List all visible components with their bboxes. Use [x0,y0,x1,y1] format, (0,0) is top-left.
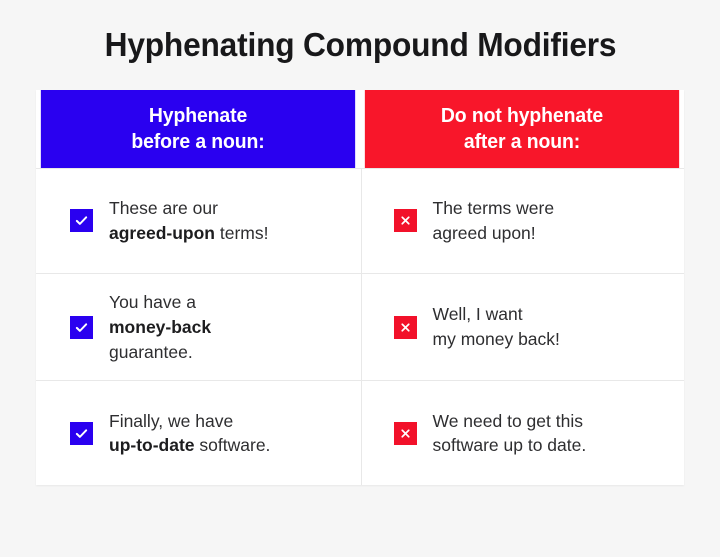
cross-icon [394,316,417,339]
incorrect-example-cell: The terms wereagreed upon! [361,169,685,273]
example-text-line: agreed upon! [433,221,555,246]
plain-text-run: Finally, we have [109,411,233,431]
cross-icon [394,422,417,445]
example-text-line: up-to-date software. [109,433,270,458]
plain-text-run: software up to date. [433,435,587,455]
plain-text-run: agreed upon! [433,223,536,243]
plain-text-run: software. [195,435,271,455]
example-text-line: my money back! [433,327,560,352]
plain-text-run: Well, I want [433,304,523,324]
table-row: These are ouragreed-upon terms! The term… [36,168,684,273]
correct-example-text: Finally, we haveup-to-date software. [109,409,270,459]
example-text-line: Well, I want [433,302,560,327]
column-header-do-not-hyphenate-line2: after a noun: [464,129,580,155]
example-text-line: money-back [109,315,211,340]
check-icon [70,316,93,339]
comparison-table: Hyphenate before a noun: Do not hyphenat… [36,90,684,486]
example-text-line: The terms were [433,196,555,221]
example-text-line: agreed-upon terms! [109,221,268,246]
column-header-do-not-hyphenate: Do not hyphenate after a noun: [365,90,679,168]
incorrect-example-cell: We need to get thissoftware up to date. [361,381,685,485]
incorrect-example-text: The terms wereagreed upon! [433,196,555,246]
plain-text-run: These are our [109,198,218,218]
correct-example-cell: Finally, we haveup-to-date software. [36,381,361,485]
plain-text-run: terms! [215,223,268,243]
plain-text-run: The terms were [433,198,555,218]
correct-example-text: These are ouragreed-upon terms! [109,196,268,246]
example-text-line: Finally, we have [109,409,270,434]
table-row: You have amoney-backguarantee. Well, I w… [36,273,684,381]
column-header-do-not-hyphenate-line1: Do not hyphenate [441,103,603,129]
infographic-card: Hyphenating Compound Modifiers Hyphenate… [0,0,720,557]
check-icon [70,422,93,445]
correct-example-cell: These are ouragreed-upon terms! [36,169,361,273]
incorrect-example-text: We need to get thissoftware up to date. [433,409,587,459]
hyphenated-modifier: up-to-date [109,435,195,455]
incorrect-example-text: Well, I wantmy money back! [433,302,560,352]
check-icon [70,209,93,232]
column-header-hyphenate: Hyphenate before a noun: [41,90,355,168]
example-text-line: guarantee. [109,340,211,365]
plain-text-run: We need to get this [433,411,583,431]
example-text-line: We need to get this [433,409,587,434]
column-header-hyphenate-line1: Hyphenate [149,103,247,129]
table-row: Finally, we haveup-to-date software. We … [36,380,684,485]
correct-example-text: You have amoney-backguarantee. [109,290,211,365]
column-header-hyphenate-line2: before a noun: [131,129,264,155]
page-title: Hyphenating Compound Modifiers [104,26,616,64]
table-header-row: Hyphenate before a noun: Do not hyphenat… [36,90,684,168]
cross-icon [394,209,417,232]
plain-text-run: guarantee. [109,342,193,362]
correct-example-cell: You have amoney-backguarantee. [36,274,361,381]
plain-text-run: my money back! [433,329,560,349]
example-text-line: These are our [109,196,268,221]
plain-text-run: You have a [109,292,196,312]
example-text-line: You have a [109,290,211,315]
incorrect-example-cell: Well, I wantmy money back! [361,274,685,381]
hyphenated-modifier: money-back [109,317,211,337]
hyphenated-modifier: agreed-upon [109,223,215,243]
example-text-line: software up to date. [433,433,587,458]
